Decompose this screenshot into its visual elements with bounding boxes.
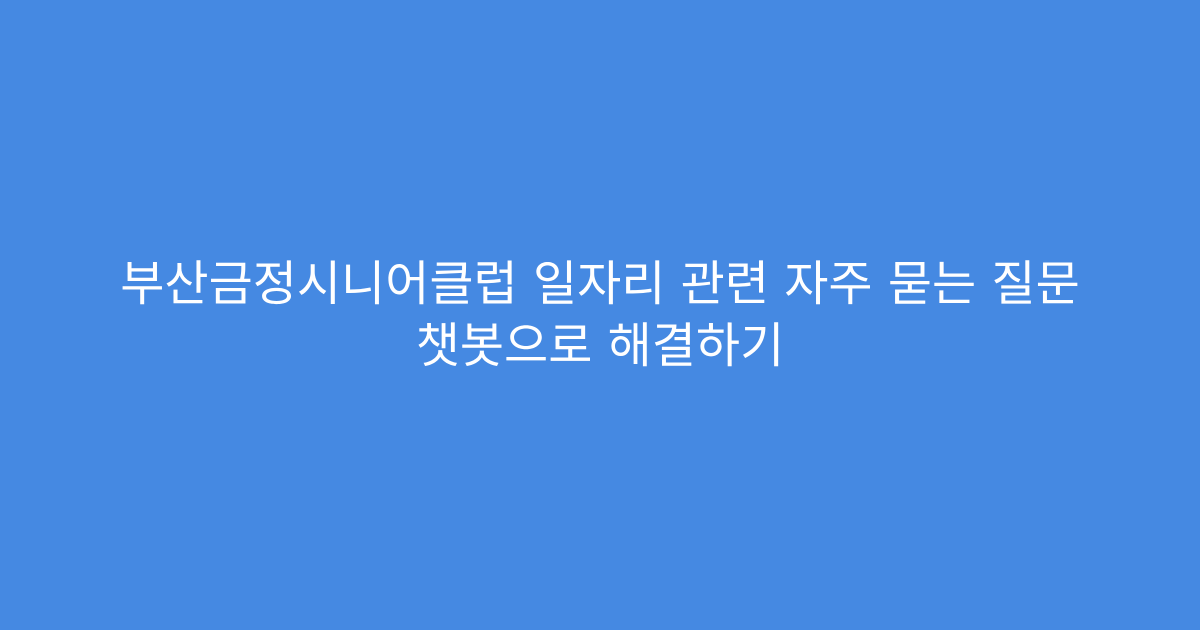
page-title-line-2: 챗봇으로 해결하기 bbox=[70, 315, 1130, 377]
page-title: 부산금정시니어클럽 일자리 관련 자주 묻는 질문 챗봇으로 해결하기 bbox=[70, 253, 1130, 377]
share-card: 부산금정시니어클럽 일자리 관련 자주 묻는 질문 챗봇으로 해결하기 bbox=[0, 0, 1200, 630]
page-title-line-1: 부산금정시니어클럽 일자리 관련 자주 묻는 질문 bbox=[70, 253, 1130, 315]
